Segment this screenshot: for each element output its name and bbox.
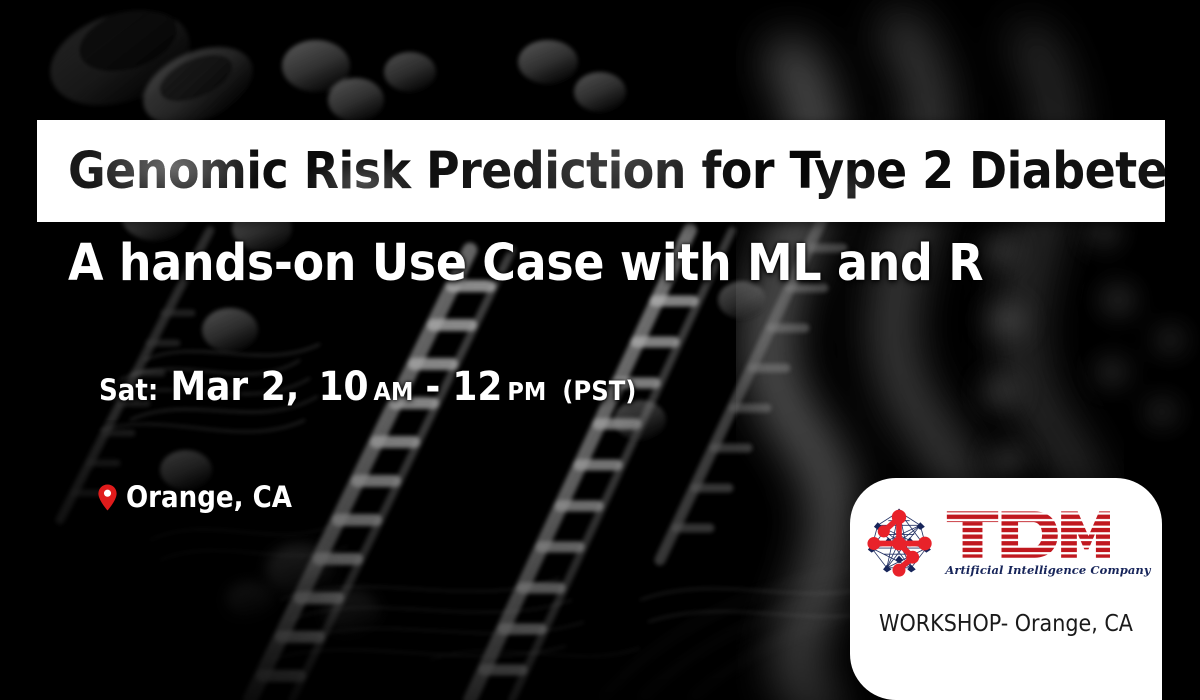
brand-wordmark-block: Artificial Intelligence Company <box>945 508 1150 577</box>
datetime-end-meridiem: PM <box>507 377 546 406</box>
datetime-date: Mar 2, <box>170 364 299 410</box>
event-location: Orange, CA <box>98 483 292 512</box>
datetime-timezone: (PST) <box>562 376 636 407</box>
network-graph-icon <box>861 504 937 580</box>
tdm-logo <box>945 508 1150 561</box>
event-banner: Genomic Risk Prediction for Type 2 Diabe… <box>0 0 1200 700</box>
datetime-day: Sat: <box>99 373 158 407</box>
map-pin-icon <box>98 484 117 511</box>
sponsor-logo-card: Artificial Intelligence Company WORKSHOP… <box>850 478 1162 700</box>
page-title-line-2: A hands-on Use Case with ML and R <box>68 238 983 289</box>
logo-row: Artificial Intelligence Company <box>850 504 1162 580</box>
brand-tagline: Artificial Intelligence Company <box>945 563 1150 577</box>
datetime-end-time: 12 <box>452 364 502 410</box>
datetime-separator: - <box>425 364 440 410</box>
workshop-caption: WORKSHOP- Orange, CA <box>850 613 1162 636</box>
page-title-line-1: Genomic Risk Prediction for Type 2 Diabe… <box>37 120 1165 222</box>
location-label: Orange, CA <box>126 483 292 512</box>
event-datetime: Sat: Mar 2, 10 AM - 12 PM (PST) <box>99 367 636 407</box>
datetime-start-meridiem: AM <box>374 377 414 406</box>
datetime-start-time: 10 <box>318 364 368 410</box>
